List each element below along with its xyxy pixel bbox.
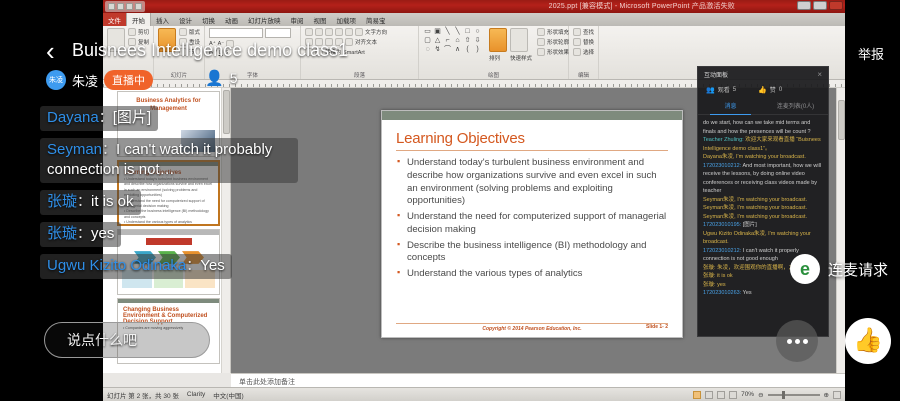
- normal-view-icon[interactable]: [693, 391, 701, 399]
- chat-bubble: Dayana：[图片]: [40, 106, 158, 131]
- ribbon-tab-jianyibao[interactable]: 简易宝: [361, 13, 391, 26]
- shape-line-icon[interactable]: ╲: [443, 28, 452, 36]
- panel-message-text: I'm watching your broadcast.: [737, 205, 807, 211]
- chat-sender: 张璇: [47, 193, 77, 210]
- host-name: 朱凌: [72, 71, 98, 90]
- like-button[interactable]: 👍: [845, 318, 891, 364]
- shape-curve2-icon[interactable]: ⌒: [443, 46, 452, 54]
- panel-message-sender: Teacher Zhuling:: [703, 137, 744, 143]
- panel-message-sender: Seyman朱凌,: [703, 197, 736, 203]
- logo-glyph: e: [800, 260, 810, 278]
- shape-triangle-icon[interactable]: △: [433, 37, 442, 45]
- chat-colon: ：: [77, 193, 91, 209]
- panel-message-sender: Seyman朱凌,: [703, 205, 736, 211]
- chat-sender: 张璇: [47, 225, 77, 242]
- viewers-icon: 👥: [706, 86, 715, 94]
- panel-message: Seyman朱凌, I'm watching your broadcast.: [703, 196, 823, 205]
- cut-icon[interactable]: [128, 28, 136, 36]
- viewer-stat: 👥 观看 5: [706, 85, 736, 94]
- chat-colon: ：: [186, 257, 200, 273]
- floating-chat-overlay: Dayana：[图片] Seyman：I can't watch it prob…: [40, 106, 302, 286]
- panel-message-text: do we start, how can we take mid terms a…: [703, 120, 811, 135]
- maximize-button[interactable]: [813, 1, 827, 10]
- close-icon[interactable]: ×: [817, 70, 822, 79]
- shape-square-icon[interactable]: ▣: [433, 28, 442, 36]
- slide-bullet: Understand today's turbulent business en…: [396, 157, 668, 208]
- interaction-panel[interactable]: 互动面板 × 👥 观看 5 👍 赞 0 消息 连麦列表(0人) do we st…: [697, 66, 829, 337]
- ribbon-tab-addins[interactable]: 加载项: [332, 13, 362, 26]
- panel-message: Ugwu Kizito Odinaka朱凌, I'm watching your…: [703, 230, 823, 247]
- panel-message: 172023010212: And most important, how we…: [703, 162, 823, 196]
- status-right-cluster[interactable]: 70% ⊖ ⊕: [693, 391, 841, 399]
- chat-text: yes: [91, 225, 114, 242]
- live-status-badge: 直播中: [104, 70, 153, 90]
- line-spacing-icon[interactable]: [345, 28, 353, 36]
- tab-messages[interactable]: 消息: [698, 98, 763, 114]
- chat-colon: ：: [99, 109, 113, 125]
- panel-message: 172023010263: Yes: [703, 289, 823, 298]
- panel-message-text: I'm watching your broadcast.: [737, 214, 807, 220]
- undo-icon[interactable]: [117, 3, 124, 10]
- interaction-panel-tabs[interactable]: 消息 连麦列表(0人): [698, 98, 828, 115]
- zoom-out-icon[interactable]: ⊖: [758, 391, 763, 399]
- panel-message-sender: Ugwu Kizito Odinaka朱凌,: [703, 231, 767, 237]
- shape-outline-icon[interactable]: [537, 38, 545, 46]
- save-icon[interactable]: [108, 3, 115, 10]
- chat-text: it is ok: [91, 193, 134, 210]
- quick-styles-label: 快速样式: [510, 54, 532, 62]
- decrease-indent-icon[interactable]: [325, 28, 333, 36]
- replace-label: 替换: [583, 38, 594, 46]
- shapes-gallery[interactable]: ▭ ▣ ╲ ╲ □ ○ ▢ △ ⌐ ⌂ ⇧ ⇩ ◌ ↯ ⌒ ∧ (: [423, 28, 482, 54]
- panel-message-sender: 张璇:: [703, 265, 716, 271]
- align-text-label: 对齐文本: [355, 38, 377, 46]
- notes-pane[interactable]: 单击此处添加备注: [231, 373, 845, 387]
- find-icon[interactable]: [573, 28, 581, 36]
- ribbon-tab-design[interactable]: 设计: [174, 13, 197, 26]
- slide-bullet: Describe the business intelligence (BI) …: [396, 240, 668, 266]
- shape-trapezoid-icon[interactable]: ⌂: [453, 37, 462, 45]
- find-label: 查找: [583, 28, 594, 36]
- panel-message: Dayana朱凌, I'm watching your broadcast.: [703, 153, 823, 162]
- slide-title: Learning Objectives: [396, 130, 668, 149]
- ppt-status-bar: 幻灯片 第 2 张，共 30 张 Clarity 中文(中国) 70% ⊖ ⊕: [103, 387, 845, 401]
- mic-request-button[interactable]: e 连麦请求: [790, 254, 888, 284]
- panel-message: do we start, how can we take mid terms a…: [703, 119, 823, 136]
- status-language: 中文(中国): [213, 390, 243, 400]
- slideshow-icon[interactable]: [729, 391, 737, 399]
- ribbon-tab-insert[interactable]: 插入: [151, 13, 174, 26]
- shape-brace-right-icon[interactable]: ): [473, 46, 482, 54]
- group-label-slides: 幻灯片: [154, 71, 204, 79]
- mic-request-label: 连麦请求: [828, 259, 888, 280]
- shape-effects-label: 形状效果: [547, 48, 569, 56]
- shape-fill-icon[interactable]: [537, 28, 545, 36]
- more-dot: [787, 339, 792, 344]
- layout-label: 版式: [189, 28, 200, 36]
- shape-outline-label: 形状轮廓: [547, 38, 569, 46]
- like-stat-value: 0: [779, 87, 782, 93]
- ribbon-group-drawing: ▭ ▣ ╲ ╲ □ ○ ▢ △ ⌐ ⌂ ⇧ ⇩ ◌ ↯ ⌒ ∧ (: [419, 26, 569, 79]
- interaction-panel-header: 互动面板 ×: [698, 67, 828, 82]
- select-label: 选择: [583, 48, 594, 56]
- slide-bullet-list: Understand today's turbulent business en…: [396, 157, 668, 281]
- viewer-stat-label: 观看: [718, 85, 730, 94]
- shape-effects-icon[interactable]: [537, 48, 545, 56]
- increase-indent-icon[interactable]: [335, 28, 343, 36]
- panel-message-text: yes: [717, 282, 726, 288]
- person-icon: 👤: [205, 71, 224, 86]
- shape-oval-icon[interactable]: ○: [473, 28, 482, 36]
- panel-message-text: Yes: [743, 290, 752, 296]
- ribbon-group-editing: 查找 替换 选择 编辑: [569, 26, 599, 79]
- chat-bubble: 张璇：it is ok: [40, 190, 141, 215]
- numbering-icon[interactable]: [315, 28, 323, 36]
- shape-brace-left-icon[interactable]: (: [463, 46, 472, 54]
- select-icon[interactable]: [573, 48, 581, 56]
- quick-styles-icon[interactable]: [510, 28, 528, 52]
- ribbon-tab-review[interactable]: 审阅: [286, 13, 309, 26]
- layout-icon[interactable]: [179, 28, 187, 36]
- slide-scrollbar-handle[interactable]: [838, 100, 845, 140]
- panel-message-sender: 172023010212:: [703, 163, 741, 169]
- live-class-screen: 2025.ppt [兼容模式] - Microsoft PowerPoint 产…: [0, 0, 900, 401]
- chat-input[interactable]: 说点什么吧: [44, 322, 210, 358]
- arrange-label: 排列: [489, 54, 507, 62]
- ribbon-tab-transitions[interactable]: 切换: [197, 13, 220, 26]
- status-zoom-value: 70%: [741, 391, 754, 398]
- like-stat-label: 赞: [770, 85, 776, 94]
- host-info[interactable]: 朱凌 朱凌 直播中: [46, 70, 153, 90]
- redo-icon[interactable]: [126, 3, 133, 10]
- shape-curve-icon[interactable]: ◌: [423, 46, 432, 54]
- back-icon[interactable]: ‹: [46, 38, 68, 64]
- chat-sender: Seyman: [47, 141, 102, 158]
- panel-message: Seyman朱凌, I'm watching your broadcast.: [703, 213, 823, 222]
- window-controls[interactable]: [797, 1, 843, 10]
- ribbon-tab-home[interactable]: 开始: [126, 13, 151, 26]
- customize-icon[interactable]: [135, 3, 142, 10]
- tab-mic-list[interactable]: 连麦列表(0人): [763, 98, 828, 114]
- shape-arrow-down-icon[interactable]: ⇩: [473, 37, 482, 45]
- ribbon-tab-file[interactable]: 文件: [103, 13, 126, 26]
- more-options-button[interactable]: [776, 320, 818, 362]
- chat-sender: Ugwu Kizito Odinaka: [47, 257, 186, 274]
- group-label-drawing: 绘图: [419, 71, 568, 79]
- panel-message-sender: Dayana朱凌,: [703, 154, 735, 160]
- app-logo-icon: e: [790, 254, 820, 284]
- cut-label: 剪切: [138, 28, 149, 36]
- status-slide-info: 幻灯片 第 2 张，共 30 张: [107, 390, 179, 400]
- chat-colon: ：: [102, 141, 116, 157]
- chat-text: [图片]: [113, 109, 151, 126]
- shape-rect-icon[interactable]: ▭: [423, 28, 432, 36]
- panel-message-sender: 172023010195:: [703, 222, 741, 228]
- slide-title-rule: [396, 150, 668, 151]
- group-label-paragraph: 段落: [301, 71, 418, 79]
- slide-top-band: [382, 111, 682, 120]
- arrange-icon[interactable]: [489, 28, 507, 52]
- panel-message-text: it is ok: [717, 273, 733, 279]
- minimize-button[interactable]: [797, 1, 811, 10]
- chat-bubble: Seyman：I can't watch it probably connect…: [40, 138, 298, 183]
- chat-bubble: Ugwu Kizito Odinaka：Yes: [40, 254, 232, 279]
- reading-view-icon[interactable]: [717, 391, 725, 399]
- group-label-editing: 编辑: [569, 71, 598, 79]
- viewer-stat-value: 5: [733, 87, 736, 93]
- ppt-window-title: 2025.ppt [兼容模式] - Microsoft PowerPoint 产…: [549, 1, 735, 11]
- chat-input-placeholder: 说点什么吧: [67, 330, 137, 350]
- slide-copyright: Copyright © 2014 Pearson Education, Inc.: [482, 326, 581, 332]
- shape-rounded-icon[interactable]: ▢: [423, 37, 432, 45]
- slide-bullet: Understand the need for computerized sup…: [396, 211, 668, 237]
- panel-message-text: [图片]: [743, 222, 757, 228]
- chat-bubble: 张璇：yes: [40, 222, 121, 247]
- quick-access-toolbar[interactable]: [105, 1, 145, 12]
- thumbs-up-icon: 👍: [853, 329, 883, 353]
- shape-angle-icon[interactable]: ∧: [453, 46, 462, 54]
- panel-message-sender: 172023010263:: [703, 290, 741, 296]
- like-stat: 👍 赞 0: [758, 85, 782, 94]
- status-theme: Clarity: [187, 391, 205, 398]
- chat-sender: Dayana: [47, 109, 99, 126]
- panel-message-text: I'm watching your broadcast.: [737, 197, 807, 203]
- panel-message: 172023010195: [图片]: [703, 221, 823, 230]
- like-icon: 👍: [758, 86, 767, 94]
- text-direction-icon[interactable]: [355, 28, 363, 36]
- bullets-icon[interactable]: [305, 28, 313, 36]
- shape-arrow-up-icon[interactable]: ⇧: [463, 37, 472, 45]
- more-dot: [795, 339, 800, 344]
- panel-message: Seyman朱凌, I'm watching your broadcast.: [703, 204, 823, 213]
- panel-message: Teacher Zhuling: 欢迎大家来观看直播 “Buisnees Int…: [703, 136, 823, 153]
- replace-icon[interactable]: [573, 38, 581, 46]
- close-button[interactable]: [829, 1, 843, 10]
- live-room-title: Buisnees Intelligence demo class1: [72, 40, 348, 61]
- panel-message-sender: 张璇:: [703, 273, 716, 279]
- viewer-count: 5: [230, 70, 238, 86]
- panel-message-sender: 张璇:: [703, 282, 716, 288]
- slide-content: Learning Objectives Understand today's t…: [382, 120, 682, 281]
- slide-bullet: Understand the various types of analytic…: [396, 268, 668, 281]
- report-button[interactable]: 举报: [858, 44, 884, 63]
- more-dot: [803, 339, 808, 344]
- ribbon-tab-slideshow[interactable]: 幻灯片放映: [243, 13, 286, 26]
- panel-message-text: I'm watching your broadcast.: [736, 154, 806, 160]
- chat-colon: ：: [77, 225, 91, 241]
- ribbon-tabs[interactable]: 文件 开始 插入 设计 切换 动画 幻灯片放映 审阅 视图 加载项 简易宝: [103, 13, 845, 26]
- viewer-count-box: 👤 5: [205, 70, 237, 86]
- shape-box-icon[interactable]: □: [463, 28, 472, 36]
- slide-number: Slide 1- 2: [646, 324, 668, 330]
- shape-fill-label: 形状填充: [547, 28, 569, 36]
- sorter-view-icon[interactable]: [705, 391, 713, 399]
- shape-arrow-icon[interactable]: ╲: [453, 28, 462, 36]
- zoom-slider[interactable]: [768, 394, 820, 396]
- panel-message-sender: 172023010212:: [703, 248, 741, 254]
- panel-message-sender: Seyman朱凌,: [703, 214, 736, 220]
- interaction-panel-stats: 👥 观看 5 👍 赞 0: [698, 82, 828, 98]
- avatar: 朱凌: [46, 70, 66, 90]
- slide-footer: Copyright © 2014 Pearson Education, Inc.…: [396, 323, 668, 332]
- zoom-in-icon[interactable]: ⊕: [824, 391, 829, 399]
- text-direction-label: 文字方向: [365, 28, 387, 36]
- shape-freeform-icon[interactable]: ↯: [433, 46, 442, 54]
- ribbon-tab-animations[interactable]: 动画: [220, 13, 243, 26]
- fit-slide-icon[interactable]: [833, 391, 841, 399]
- interaction-panel-title: 互动面板: [704, 70, 728, 79]
- current-slide[interactable]: Learning Objectives Understand today's t…: [381, 110, 683, 338]
- slide-scrollbar[interactable]: [836, 88, 845, 373]
- chat-text: Yes: [200, 257, 224, 274]
- shape-lshape-icon[interactable]: ⌐: [443, 37, 452, 45]
- ribbon-tab-view[interactable]: 视图: [309, 13, 332, 26]
- ppt-title-bar: 2025.ppt [兼容模式] - Microsoft PowerPoint 产…: [103, 0, 845, 13]
